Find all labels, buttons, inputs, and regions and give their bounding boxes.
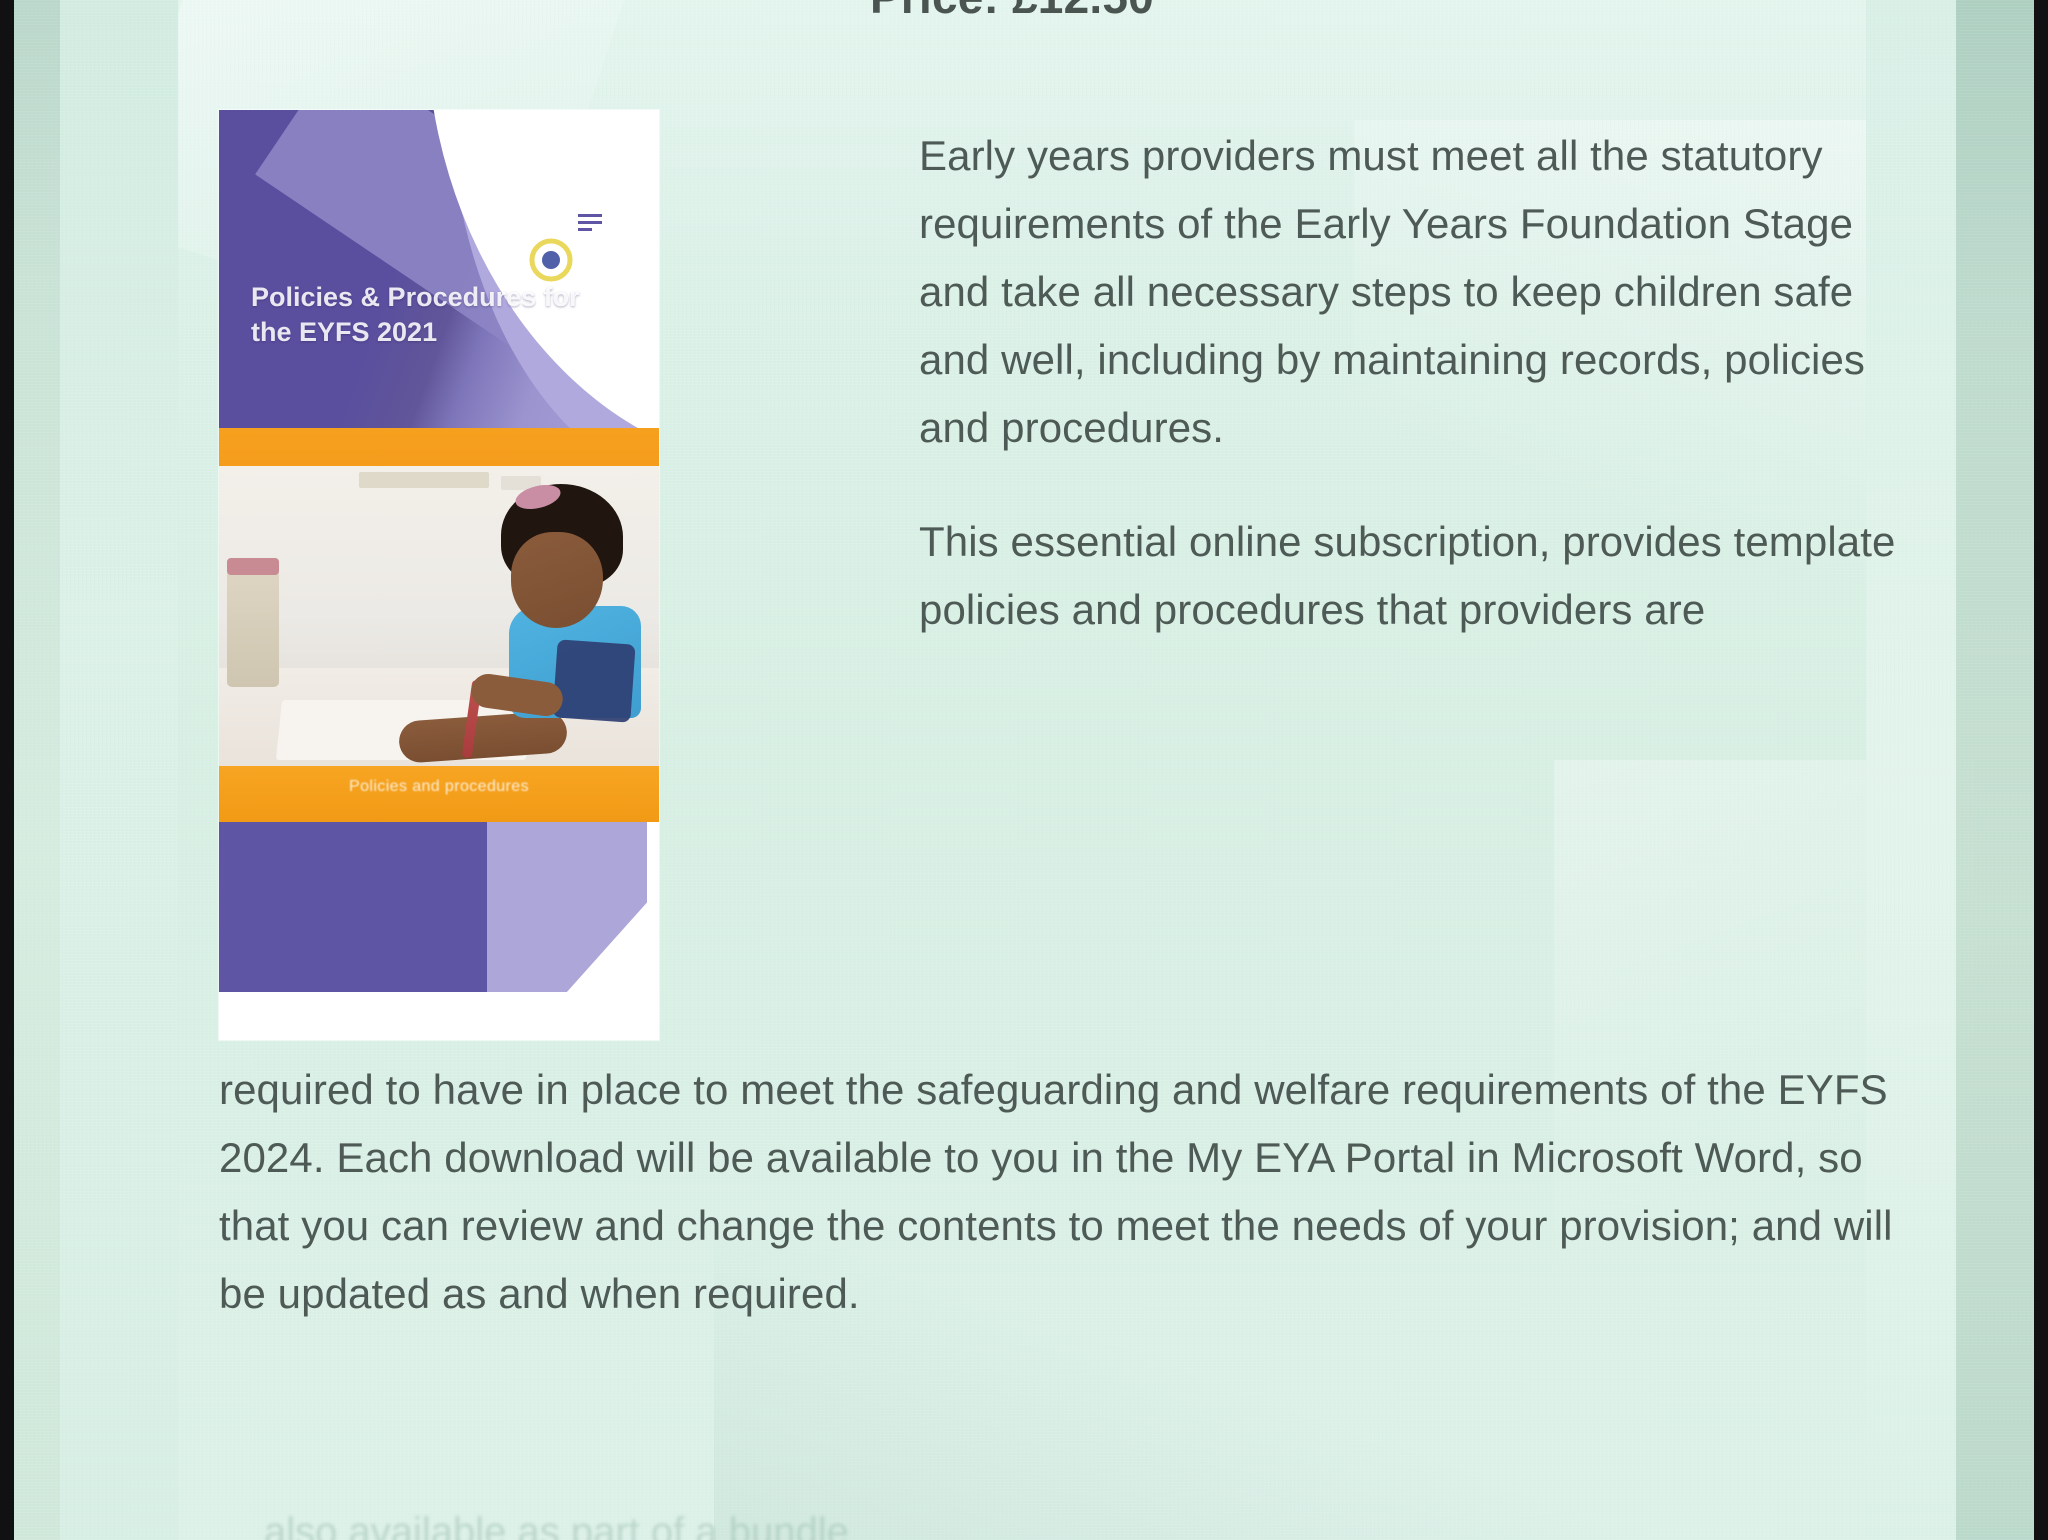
cover-title: Policies & Procedures for the EYFS 2021: [251, 280, 581, 349]
page-content: Price: £12.50: [14, 0, 2034, 1540]
cut-off-bottom-line: also available as part of a bundle: [264, 1510, 1764, 1540]
product-cover-image[interactable]: Policies & Procedures for the EYFS 2021: [219, 110, 659, 1040]
page-surface: Price: £12.50: [14, 0, 2034, 1540]
description-paragraph-two-rest: required to have in place to meet the sa…: [219, 1056, 1934, 1328]
photo-cup-lid: [227, 558, 279, 575]
photo-cup: [227, 562, 279, 687]
cover-photo: [219, 466, 659, 766]
description-paragraph-one: Early years providers must meet all the …: [919, 122, 1929, 462]
description-column: Early years providers must meet all the …: [919, 122, 1929, 644]
cover-orange-band-top: [219, 428, 659, 466]
eya-logo-icon: [521, 198, 617, 290]
photo-child-face: [511, 532, 603, 628]
description-paragraph-two-start: This essential online subscription, prov…: [919, 508, 1929, 644]
photo-shelf: [359, 472, 489, 488]
price-heading: Price: £12.50: [870, 0, 1154, 24]
cover-footer-purple: [219, 822, 487, 992]
photo-child-bib: [552, 639, 635, 722]
window-frame: Price: £12.50: [0, 0, 2048, 1540]
cover-band-caption: Policies and procedures: [219, 778, 659, 796]
